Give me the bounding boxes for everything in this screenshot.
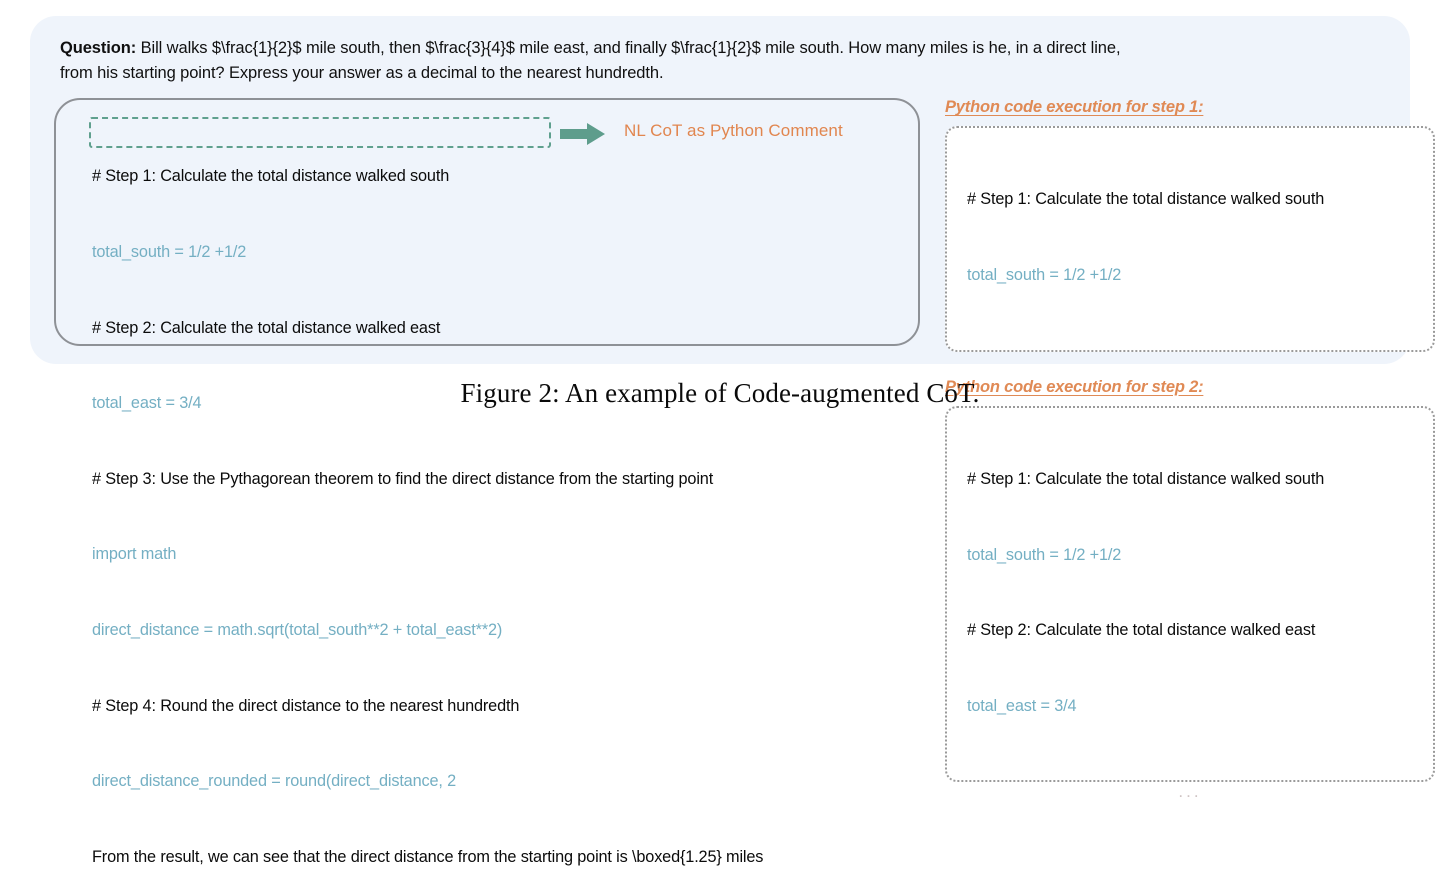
code-line-text: # Step 3: Use the Pythagorean theorem to… (92, 470, 713, 488)
code-line: # Step 2: Calculate the total distance w… (967, 618, 1419, 643)
code-line: total_south = 1/2 +1/2 (92, 240, 912, 265)
question-label: Question: (60, 39, 136, 57)
code-line: direct_distance_rounded = round(direct_d… (92, 769, 912, 794)
code-line-text: # Step 1: Calculate the total distance w… (967, 190, 1324, 208)
code-line: # Step 1: Calculate the total distance w… (967, 467, 1419, 492)
code-line-text: total_south = 1/2 +1/2 (967, 546, 1121, 564)
code-line-text: import math (92, 545, 176, 563)
code-line-text: # Step 4: Round the direct distance to t… (92, 697, 519, 715)
code-line-text: direct_distance_rounded = round(direct_d… (92, 772, 456, 790)
code-line-text: total_south = 1/2 +1/2 (92, 243, 246, 261)
code-line: # Step 1: Calculate the total distance w… (92, 164, 912, 189)
code-line: # Step 3: Use the Pythagorean theorem to… (92, 467, 912, 492)
code-line: import math (92, 542, 912, 567)
execution-code-lines: # Step 1: Calculate the total distance w… (967, 417, 1419, 770)
continuation-ellipsis: ... (945, 786, 1435, 798)
right-arrow-icon (560, 122, 606, 146)
execution-output-box: # Step 1: Calculate the total distance w… (945, 126, 1435, 352)
execution-block-step2: Python code execution for step 2: # Step… (945, 378, 1435, 799)
code-line-text: # Step 1: Calculate the total distance w… (92, 167, 449, 185)
code-line: total_south = 1/2 +1/2 (967, 543, 1419, 568)
code-line: total_south = 1/2 +1/2 (967, 263, 1419, 288)
code-line-text: total_east = 3/4 (967, 697, 1076, 715)
code-line-text: # Step 2: Calculate the total distance w… (92, 319, 440, 337)
execution-output-box: # Step 1: Calculate the total distance w… (945, 406, 1435, 783)
code-line-text: direct_distance = math.sqrt(total_south*… (92, 621, 502, 639)
figure-root: Question: Bill walks $\frac{1}{2}$ mile … (0, 0, 1440, 444)
code-line: # Step 4: Round the direct distance to t… (92, 694, 912, 719)
figure-caption: Figure 2: An example of Code-augmented C… (0, 378, 1440, 409)
question-text-line2: from his starting point? Express your an… (60, 64, 663, 82)
code-line: total_east = 3/4 (967, 694, 1419, 719)
code-line-text: # Step 1: Calculate the total distance w… (967, 470, 1324, 488)
example-panel: Question: Bill walks $\frac{1}{2}$ mile … (30, 16, 1410, 364)
execution-block-step1: Python code execution for step 1: # Step… (945, 98, 1435, 352)
question-block: Question: Bill walks $\frac{1}{2}$ mile … (60, 36, 1380, 86)
execution-heading: Python code execution for step 1: (945, 98, 1435, 117)
execution-column: Python code execution for step 1: # Step… (945, 98, 1435, 798)
code-line-text: total_south = 1/2 +1/2 (967, 266, 1121, 284)
nl-cot-annotation-label: NL CoT as Python Comment (624, 121, 843, 141)
code-line: # Step 1: Calculate the total distance w… (967, 187, 1419, 212)
code-line: direct_distance = math.sqrt(total_south*… (92, 618, 912, 643)
question-text-line1: Bill walks $\frac{1}{2}$ mile south, the… (136, 39, 1120, 57)
code-line: From the result, we can see that the dir… (92, 845, 912, 870)
code-line-text: From the result, we can see that the dir… (92, 848, 763, 866)
cot-code-lines: # Step 1: Calculate the total distance w… (92, 114, 912, 888)
code-line: # Step 2: Calculate the total distance w… (92, 316, 912, 341)
execution-code-lines: # Step 1: Calculate the total distance w… (967, 137, 1419, 339)
code-line-text: # Step 2: Calculate the total distance w… (967, 621, 1315, 639)
